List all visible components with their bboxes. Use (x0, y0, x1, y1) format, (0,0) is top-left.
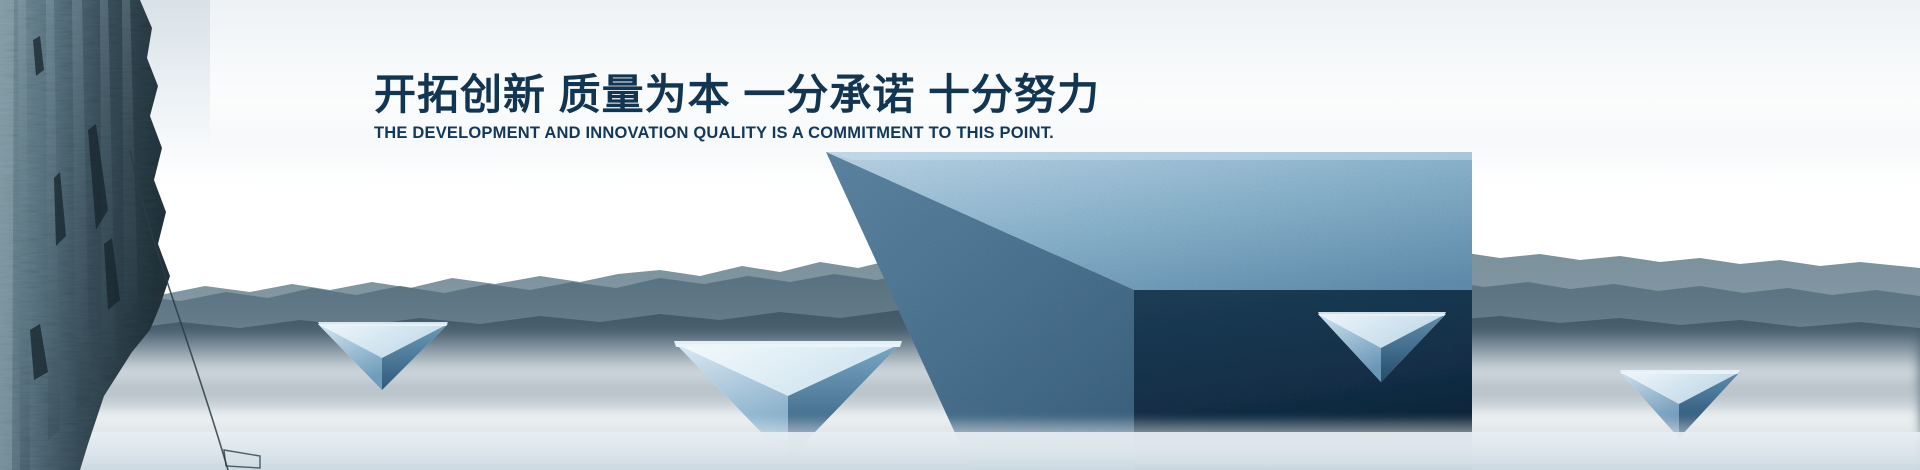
page-subtitle: THE DEVELOPMENT AND INNOVATION QUALITY I… (374, 124, 1054, 143)
small-pyramid-left (318, 318, 448, 398)
page-title: 开拓创新 质量为本 一分承诺 十分努力 (374, 72, 1100, 118)
small-pyramid-right (1318, 308, 1446, 390)
hero-banner: 开拓创新 质量为本 一分承诺 十分努力 THE DEVELOPMENT AND … (0, 0, 1920, 470)
cable-wire (120, 150, 300, 470)
large-pyramid (812, 140, 1472, 470)
